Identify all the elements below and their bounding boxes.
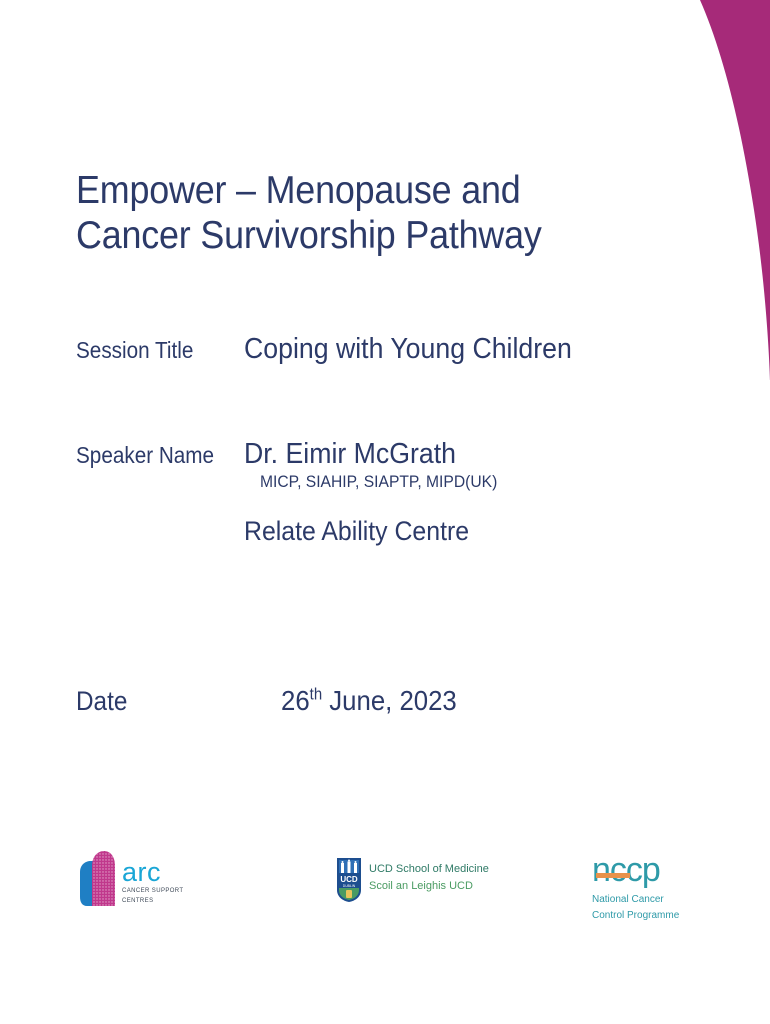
speaker-affiliation: Relate Ability Centre xyxy=(244,516,673,547)
speaker-credentials: MICP, SIAHIP, SIAPTP, MIPD(UK) xyxy=(260,472,497,492)
speaker-name-label: Speaker Name xyxy=(76,442,227,470)
svg-text:UCD: UCD xyxy=(340,875,358,884)
nccp-fullname: National Cancer Control Programme xyxy=(592,892,679,924)
presentation-title-slide: Empower – Menopause and Cancer Survivors… xyxy=(0,0,770,1024)
logo-arc-cancer-support-centres: arc CANCER SUPPORT CENTRES xyxy=(78,850,184,914)
speaker-name-line: Dr. Eimir McGrath MICP, SIAHIP, SIAPTP, … xyxy=(244,437,710,492)
nccp-fullname-line1: National Cancer xyxy=(592,892,679,908)
ucd-wordmark-block: UCD School of Medicine Scoil an Leighis … xyxy=(369,861,489,894)
arc-tagline-line2: CENTRES xyxy=(122,897,184,906)
date-row: Date 26th June, 2023 xyxy=(76,684,710,718)
page-title: Empower – Menopause and Cancer Survivors… xyxy=(76,168,564,258)
speaker-name-value: Dr. Eimir McGrath xyxy=(244,437,456,472)
session-title-label: Session Title xyxy=(76,337,227,365)
arc-wordmark: arc xyxy=(122,860,184,884)
date-day: 26 xyxy=(281,685,310,716)
nccp-wordmark-block: nccp National Cancer Control Programme xyxy=(592,855,679,924)
svg-text:DUBLIN: DUBLIN xyxy=(343,884,356,888)
session-title-row: Session Title Coping with Young Children xyxy=(76,332,710,367)
session-title-value: Coping with Young Children xyxy=(244,332,572,367)
speaker-details: Dr. Eimir McGrath MICP, SIAHIP, SIAPTP, … xyxy=(244,437,710,547)
logo-ucd-school-of-medicine: UCD DUBLIN UCD School of Medicine Scoil … xyxy=(336,857,489,903)
logo-nccp: nccp National Cancer Control Programme xyxy=(592,855,679,924)
arc-tagline-line1: CANCER SUPPORT xyxy=(122,887,184,896)
arc-wordmark-block: arc CANCER SUPPORT CENTRES xyxy=(122,860,184,906)
speaker-row: Speaker Name Dr. Eimir McGrath MICP, SIA… xyxy=(76,437,710,547)
ucd-crest-icon: UCD DUBLIN xyxy=(336,857,362,903)
date-month-year: June, 2023 xyxy=(322,685,457,716)
ucd-name-english: UCD School of Medicine xyxy=(369,861,489,878)
date-ordinal-suffix: th xyxy=(310,686,322,704)
ucd-name-irish: Scoil an Leighis UCD xyxy=(369,878,489,895)
nccp-wordmark: nccp xyxy=(592,855,679,886)
arc-mark-icon xyxy=(78,850,116,914)
partner-logo-strip: arc CANCER SUPPORT CENTRES UCD DUBL xyxy=(0,845,770,965)
date-label: Date xyxy=(76,685,261,717)
arc-tagline: CANCER SUPPORT CENTRES xyxy=(122,887,184,906)
nccp-fullname-line2: Control Programme xyxy=(592,908,679,924)
nccp-orange-bar-icon xyxy=(596,873,630,878)
date-value: 26th June, 2023 xyxy=(281,684,457,718)
slide-content: Empower – Menopause and Cancer Survivors… xyxy=(76,168,710,718)
